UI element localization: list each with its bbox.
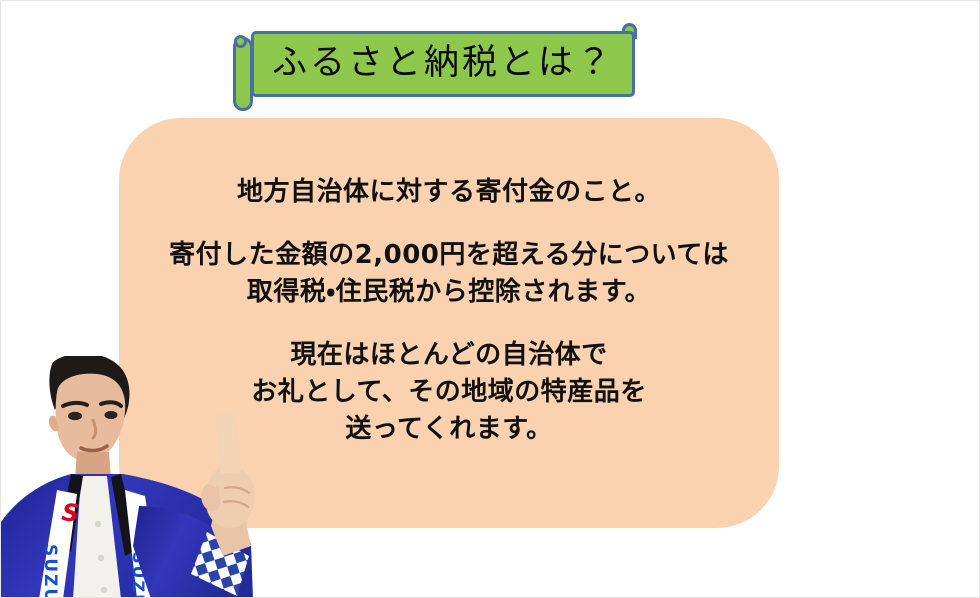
shirt-button bbox=[101, 587, 107, 593]
eye-left bbox=[68, 412, 82, 420]
title-banner-body: ふるさと納税とは？ bbox=[251, 31, 635, 97]
page-title: ふるさと納税とは？ bbox=[254, 46, 632, 81]
eye-right bbox=[105, 411, 118, 419]
scroll-curl-left-icon bbox=[234, 35, 247, 48]
scroll-roll-left-icon bbox=[233, 37, 253, 111]
shirt-button bbox=[95, 521, 101, 527]
happi-brand-text: SUZUK bbox=[40, 544, 60, 598]
text-line: 取得税・住民税から控除されます。 bbox=[119, 274, 779, 311]
character-photo: S S SUZUK SUZU bbox=[1, 356, 291, 598]
text-line: 寄付した金額の2,000円を超える分については bbox=[119, 237, 779, 274]
paragraph-deduction: 寄付した金額の2,000円を超える分については 取得税・住民税から控除されます。 bbox=[119, 237, 779, 311]
slide-canvas: ふるさと納税とは？ 地方自治体に対する寄付金のこと。 寄付した金額の2,000円… bbox=[0, 0, 980, 598]
title-banner: ふるさと納税とは？ bbox=[229, 23, 641, 111]
suzuki-logo-icon: S bbox=[60, 498, 80, 528]
pointing-finger bbox=[217, 412, 241, 474]
shirt-button bbox=[98, 555, 104, 561]
text-line: 地方自治体に対する寄付金のこと。 bbox=[119, 174, 779, 211]
man-pointing-illustration: S S SUZUK SUZU bbox=[1, 356, 291, 598]
paragraph-definition: 地方自治体に対する寄付金のこと。 bbox=[119, 174, 779, 211]
